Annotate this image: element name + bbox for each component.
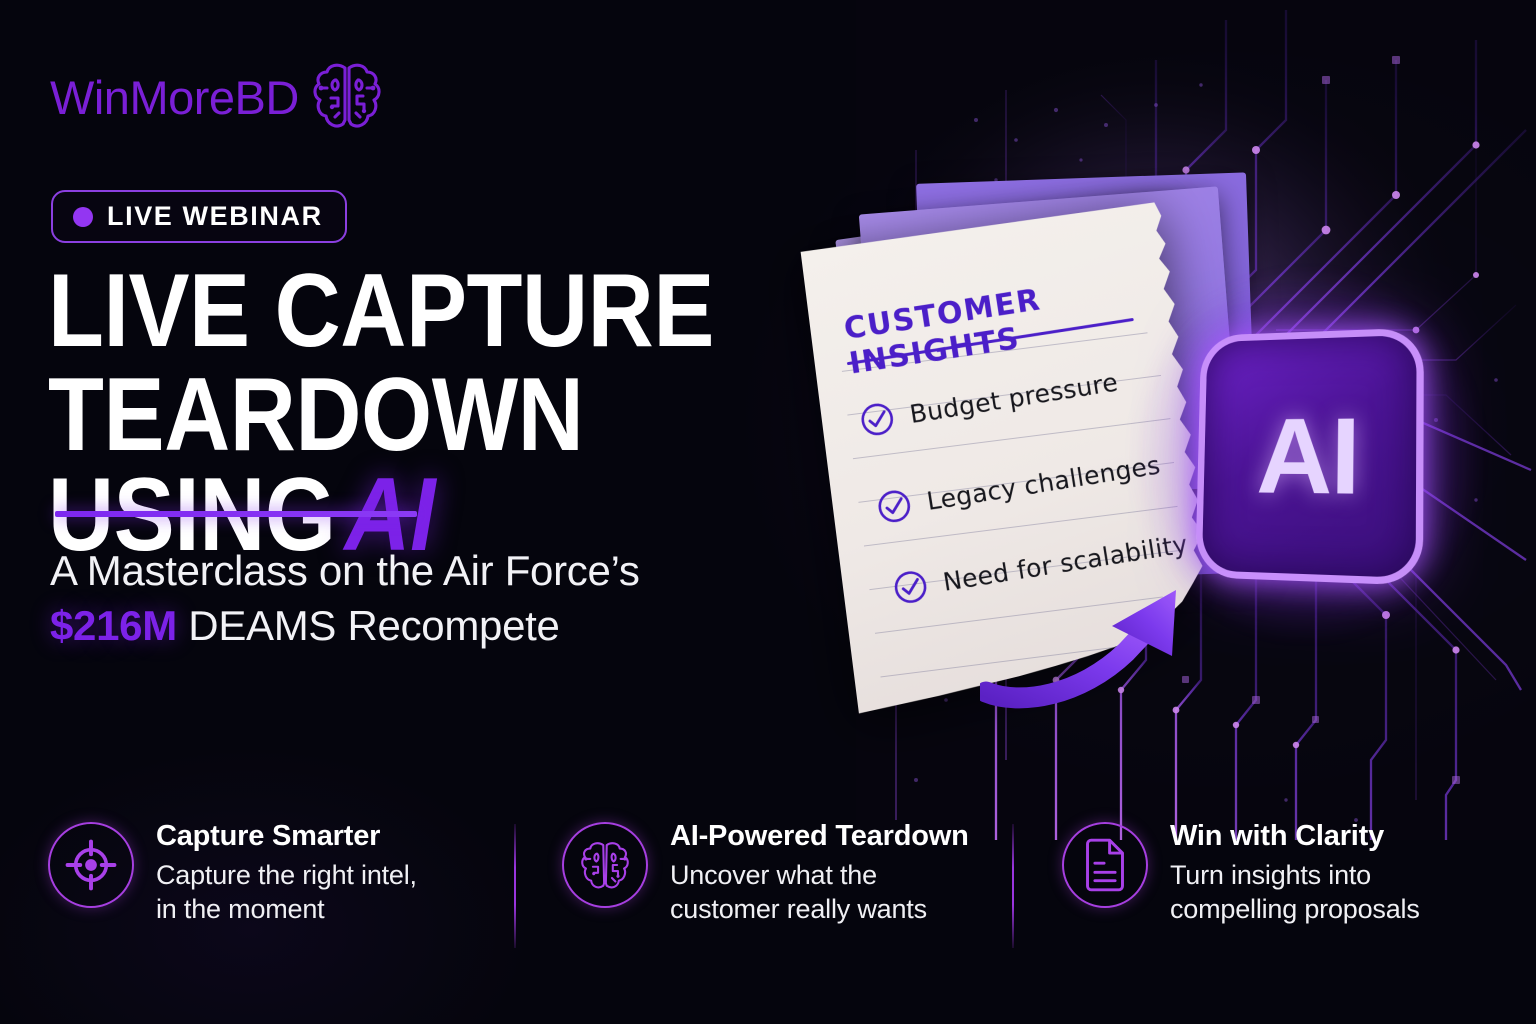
feature-desc-line-1: Uncover what the — [670, 858, 969, 892]
check-circle-icon — [891, 568, 930, 607]
subtitle-line-2: $216M DEAMS Recompete — [50, 598, 810, 653]
brand-name: WinMoreBD — [50, 70, 299, 125]
ai-chip: AI — [1192, 330, 1422, 580]
ai-chip-icon: AI — [1195, 328, 1424, 586]
accent-divider — [55, 511, 417, 517]
feature-win-with-clarity: Win with Clarity Turn insights into comp… — [1014, 818, 1484, 926]
feature-description: Uncover what the customer really wants — [670, 858, 969, 926]
subtitle-line-1: A Masterclass on the Air Force’s — [50, 543, 810, 598]
feature-desc-line-2: compelling proposals — [1170, 892, 1420, 926]
feature-desc-line-1: Capture the right intel, — [156, 858, 417, 892]
target-crosshair-icon — [48, 822, 134, 908]
feature-description: Capture the right intel, in the moment — [156, 858, 417, 926]
feature-capture-smarter: Capture Smarter Capture the right intel,… — [48, 818, 500, 926]
check-circle-icon — [858, 400, 897, 439]
feature-body: Win with Clarity Turn insights into comp… — [1170, 818, 1420, 926]
feature-desc-line-1: Turn insights into — [1170, 858, 1420, 892]
brain-circuit-icon — [311, 58, 383, 136]
feature-description: Turn insights into compelling proposals — [1170, 858, 1420, 926]
feature-desc-line-2: in the moment — [156, 892, 417, 926]
subtitle: A Masterclass on the Air Force’s $216M D… — [50, 543, 810, 654]
document-lines-icon — [1062, 822, 1148, 908]
brand-logo[interactable]: WinMoreBD — [50, 58, 383, 136]
feature-title: Win with Clarity — [1170, 820, 1420, 853]
headline-line-1: LIVE CAPTURE — [48, 253, 714, 369]
chip-label: AI — [1256, 392, 1360, 519]
subtitle-line-2-rest: DEAMS Recompete — [177, 602, 560, 649]
feature-list: Capture Smarter Capture the right intel,… — [48, 818, 1500, 968]
check-circle-icon — [875, 487, 914, 526]
page-title: LIVE CAPTURE TEARDOWN USINGAI — [48, 262, 752, 565]
brain-circuit-icon — [562, 822, 648, 908]
feature-body: Capture Smarter Capture the right intel,… — [156, 818, 417, 926]
live-dot-icon — [73, 207, 93, 227]
badge-label: LIVE WEBINAR — [107, 201, 323, 232]
contract-amount: $216M — [50, 602, 177, 649]
feature-title: AI-Powered Teardown — [670, 820, 969, 853]
headline-line-2-wrap: TEARDOWN USINGAI — [48, 366, 752, 566]
feature-ai-powered-teardown: AI-Powered Teardown Uncover what the cus… — [516, 818, 996, 926]
feature-desc-line-2: customer really wants — [670, 892, 969, 926]
feature-title: Capture Smarter — [156, 820, 417, 853]
headline-line-2: TEARDOWN USING — [48, 357, 583, 573]
promo-banner: WinMoreBD LIVE WEBINAR — [0, 0, 1536, 1024]
live-webinar-badge[interactable]: LIVE WEBINAR — [51, 190, 347, 243]
feature-body: AI-Powered Teardown Uncover what the cus… — [670, 818, 969, 926]
